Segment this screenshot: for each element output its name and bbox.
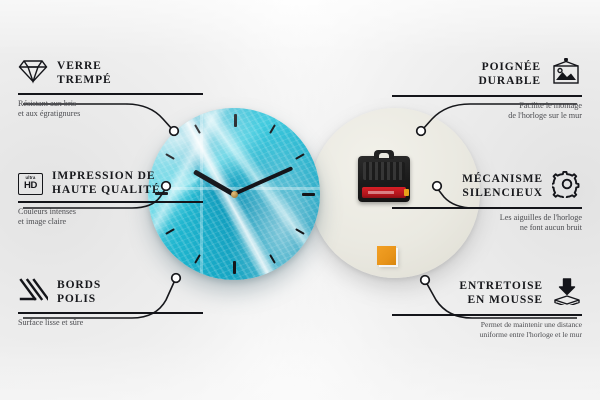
- feature-subtitle: Surface lisse et sûre: [18, 318, 203, 329]
- feature-impression-haute-qualite[interactable]: ultra HD IMPRESSION DEHAUTE QUALITÉ Coul…: [18, 170, 203, 228]
- feature-poignee-durable[interactable]: POIGNÉEDURABLE Facilite le montagede l'h…: [392, 58, 582, 122]
- feature-subtitle: Couleurs intenseset image claire: [18, 207, 203, 228]
- feature-bords-polis[interactable]: BORDSPOLIS Surface lisse et sûre: [18, 277, 203, 328]
- wall-hanger-icon: [550, 58, 582, 91]
- connector-dot-verre-trempe: [170, 127, 179, 136]
- feature-title: POIGNÉEDURABLE: [478, 61, 541, 88]
- feature-title: IMPRESSION DEHAUTE QUALITÉ: [52, 170, 161, 197]
- feature-subtitle: Permet de maintenir une distanceuniforme…: [392, 320, 582, 341]
- feature-title: BORDSPOLIS: [57, 279, 101, 306]
- feature-verre-trempe[interactable]: VERRETREMPÉ Résistant aux briset aux égr…: [18, 58, 203, 120]
- divider: [18, 312, 203, 314]
- feature-title: ENTRETOISEEN MOUSSE: [459, 280, 543, 307]
- feature-subtitle: Résistant aux briset aux égratignures: [18, 99, 203, 120]
- divider: [392, 207, 582, 209]
- foam-spacer-icon: [552, 277, 582, 310]
- divider: [18, 201, 203, 203]
- infographic-stage: VERRETREMPÉ Résistant aux briset aux égr…: [0, 0, 600, 400]
- feature-subtitle: Facilite le montagede l'horloge sur le m…: [392, 101, 582, 122]
- polished-edges-icon: [18, 277, 48, 308]
- gear-icon: [552, 170, 582, 203]
- feature-title: VERRETREMPÉ: [57, 60, 112, 87]
- feature-subtitle: Les aiguilles de l'horlogene font aucun …: [392, 213, 582, 234]
- feature-entretoise-en-mousse[interactable]: ENTRETOISEEN MOUSSE Permet de maintenir …: [392, 277, 582, 341]
- divider: [18, 93, 203, 95]
- divider: [392, 95, 582, 97]
- divider: [392, 314, 582, 316]
- feature-mecanisme-silencieux[interactable]: MÉCANISMESILENCIEUX Les aiguilles de l'h…: [392, 170, 582, 234]
- ultra-hd-icon: ultra HD: [18, 173, 43, 195]
- feature-title: MÉCANISMESILENCIEUX: [462, 173, 543, 200]
- hd-badge-main: HD: [24, 181, 37, 191]
- connector-dot-poignee: [417, 127, 426, 136]
- diamond-icon: [18, 58, 48, 89]
